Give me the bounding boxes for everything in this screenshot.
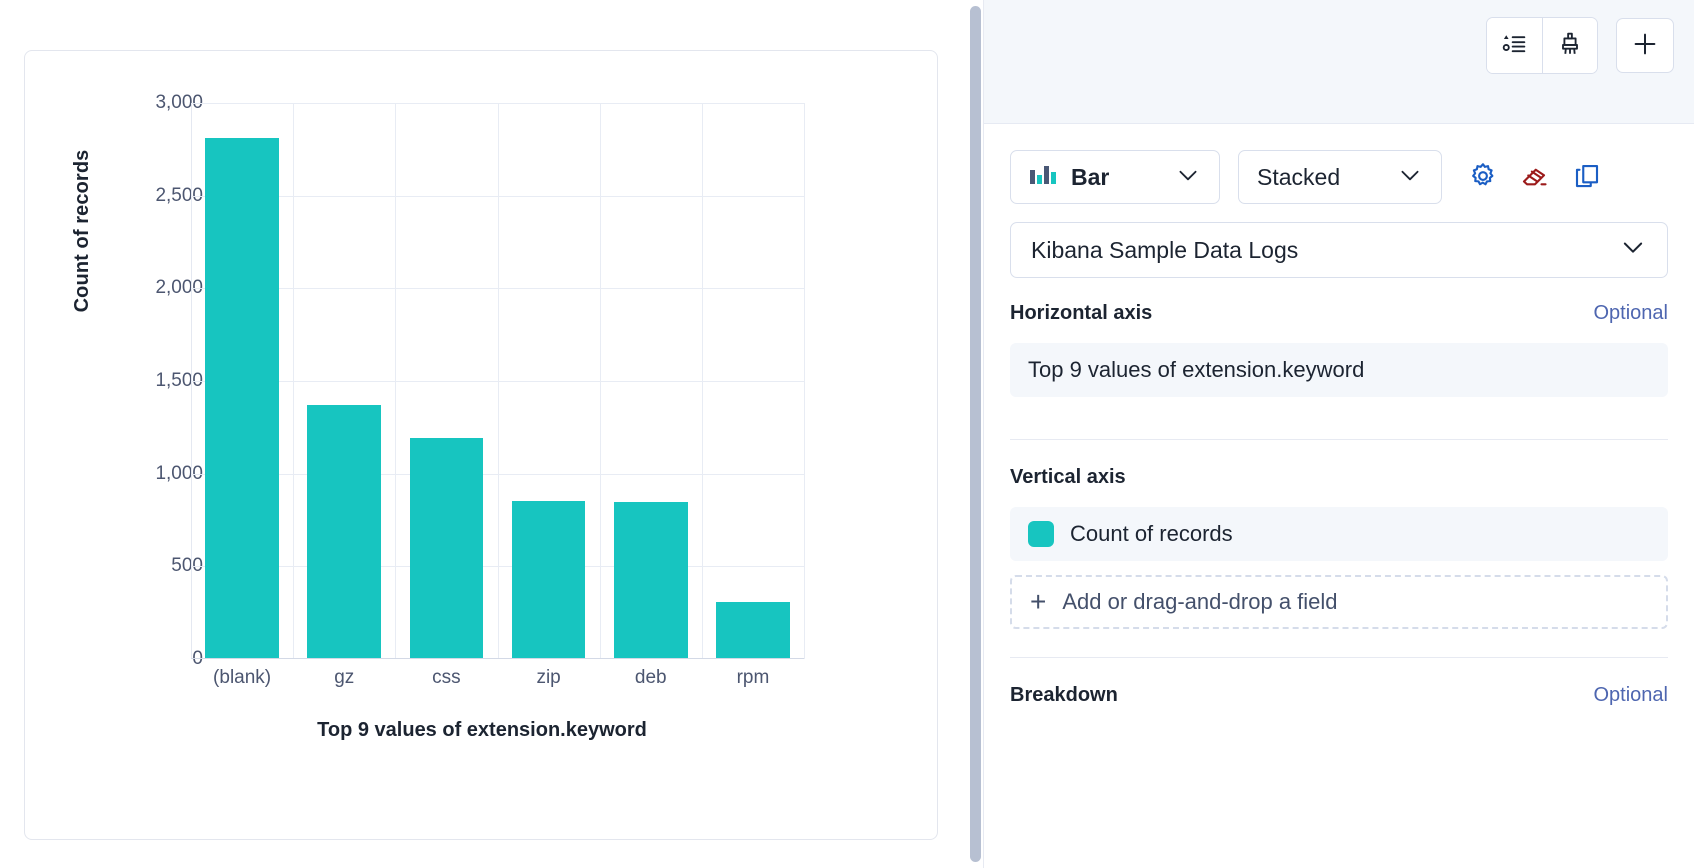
stacking-label: Stacked [1257,164,1340,191]
chart-workspace: Count of records 05001,0001,5002,0002,50… [0,0,983,868]
gridline-vertical [804,103,805,659]
add-layer-button[interactable] [1616,18,1674,73]
chart-type-label: Bar [1071,164,1109,191]
bar[interactable] [512,501,586,659]
section-title: Vertical axis [1010,466,1126,489]
x-axis-tick: gz [293,667,395,689]
section-spacer [1010,411,1668,439]
bar-slot [293,103,395,659]
plus-icon [1630,29,1660,62]
lens-editor: Count of records 05001,0001,5002,0002,50… [0,0,1694,868]
section-title: Breakdown [1010,684,1118,707]
x-axis-tick: css [395,667,497,689]
config-panel-header [984,0,1694,124]
layer-actions [1468,161,1602,194]
paint-brush-button[interactable] [1542,18,1597,73]
stacking-chevron-down-icon [1397,162,1423,193]
section-optional-label: Optional [1594,684,1669,707]
config-panel-body: Bar Stacked [984,124,1694,753]
visualization-row: Bar Stacked [1010,150,1668,204]
plot-area [191,103,804,659]
chart-type-selector[interactable]: Bar [1010,150,1220,204]
section-optional-label: Optional [1594,302,1669,325]
y-axis-title: Count of records [71,121,94,341]
bar[interactable] [614,502,688,659]
layer-settings-button[interactable] [1468,161,1498,194]
duplicate-layer-button[interactable] [1572,161,1602,194]
x-axis-tick-labels: (blank)gzcsszipdebrpm [191,667,804,689]
x-axis-title: Top 9 values of extension.keyword [25,719,939,742]
gear-icon [1468,161,1498,194]
eraser-icon [1520,161,1550,194]
legend-list-button[interactable] [1487,18,1542,73]
header-toolbar [1486,17,1674,74]
section-header: BreakdownOptional [1010,684,1668,707]
clear-layer-button[interactable] [1520,161,1550,194]
data-source-label: Kibana Sample Data Logs [1031,237,1298,264]
data-source-selector[interactable]: Kibana Sample Data Logs [1010,222,1668,278]
paint-brush-icon [1556,30,1584,61]
x-axis-tick: zip [498,667,600,689]
bar-chart-icon [1029,163,1057,192]
bar[interactable] [410,438,484,659]
section-title: Horizontal axis [1010,302,1152,325]
x-axis-tick: rpm [702,667,804,689]
bar-slot [600,103,702,659]
section-spacer [1010,725,1668,753]
copy-icon [1572,161,1602,194]
x-axis-tick: deb [600,667,702,689]
section-header: Horizontal axisOptional [1010,302,1668,325]
bar-slot [395,103,497,659]
chart-render-area[interactable]: Count of records 05001,0001,5002,0002,50… [25,51,937,839]
stacking-selector[interactable]: Stacked [1238,150,1442,204]
add-field-label: Add or drag-and-drop a field [1062,589,1337,615]
bar-slot [498,103,600,659]
bar-slot [191,103,293,659]
header-button-group [1486,17,1598,74]
chart-card: Count of records 05001,0001,5002,0002,50… [24,50,938,840]
dimension-field-label: Top 9 values of extension.keyword [1028,357,1364,383]
data-source-chevron-down-icon [1619,233,1647,267]
legend-list-icon [1501,30,1529,61]
config-panel: Bar Stacked [983,0,1694,868]
section-divider [1010,439,1668,440]
color-swatch-icon [1028,521,1054,547]
chart-type-chevron-down-icon [1175,162,1201,193]
bar[interactable] [205,138,279,659]
x-axis-line [191,658,804,659]
dimension-field-chip[interactable]: Count of records [1010,507,1668,561]
panel-scrollbar[interactable] [970,6,981,862]
bar[interactable] [716,602,790,659]
bar-series [191,103,804,659]
bar[interactable] [307,405,381,659]
add-field-dropzone[interactable]: +Add or drag-and-drop a field [1010,575,1668,629]
plus-icon: + [1030,588,1046,616]
section-header: Vertical axis [1010,466,1668,489]
section-divider [1010,657,1668,658]
dimension-field-chip[interactable]: Top 9 values of extension.keyword [1010,343,1668,397]
dimension-sections: Horizontal axisOptionalTop 9 values of e… [1010,302,1668,753]
section-spacer [1010,629,1668,657]
x-axis-tick: (blank) [191,667,293,689]
dimension-field-label: Count of records [1070,521,1233,547]
bar-slot [702,103,804,659]
